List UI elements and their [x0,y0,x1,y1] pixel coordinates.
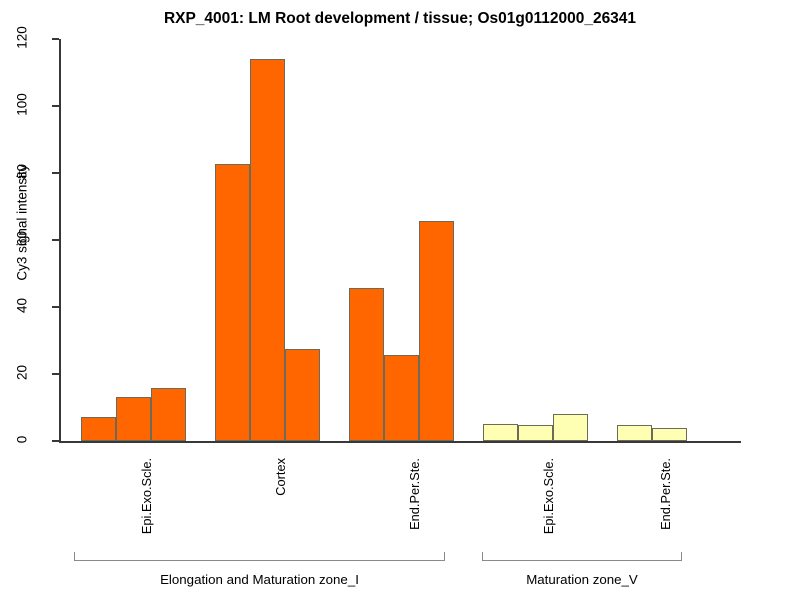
chart-title: RXP_4001: LM Root development / tissue; … [0,10,800,28]
bar [151,388,186,441]
y-axis-tick [52,306,59,308]
x-axis-tick-label: Epi.Exo.Scle. [541,458,556,548]
y-axis-tick [52,239,59,241]
y-axis-tick [52,38,59,40]
x-axis-tick-label: Epi.Exo.Scle. [139,458,154,548]
y-axis-line [59,39,61,441]
bar [617,425,652,441]
bar [349,288,384,441]
bar [518,425,553,441]
bar [384,355,419,441]
y-axis-tick-label: 0 [15,420,30,460]
bar [285,349,320,441]
group-bracket [482,552,682,561]
bar [652,428,687,441]
x-axis-tick-label: End.Per.Ste. [658,458,673,548]
y-axis-tick-label: 20 [15,353,30,393]
y-axis-tick-label: 100 [15,85,30,125]
x-axis-tick-label: End.Per.Ste. [407,458,422,548]
y-axis-tick [52,172,59,174]
y-axis-tick [52,440,59,442]
bar-chart: RXP_4001: LM Root development / tissue; … [0,0,800,600]
bar [553,414,588,441]
y-axis-tick-label: 120 [15,18,30,58]
bar [250,59,285,441]
x-axis-tick-label: Cortex [273,458,288,548]
bar [81,417,116,441]
y-axis-tick [52,105,59,107]
bar [116,397,151,441]
x-axis-baseline [59,441,741,443]
y-axis-tick-label: 40 [15,286,30,326]
y-axis-tick-label: 80 [15,152,30,192]
y-axis-tick-label: 60 [15,219,30,259]
y-axis-tick [52,373,59,375]
bar [483,424,518,441]
bar [215,164,250,441]
group-label: Maturation zone_V [382,572,782,587]
bar [419,221,454,441]
group-bracket [74,552,445,561]
